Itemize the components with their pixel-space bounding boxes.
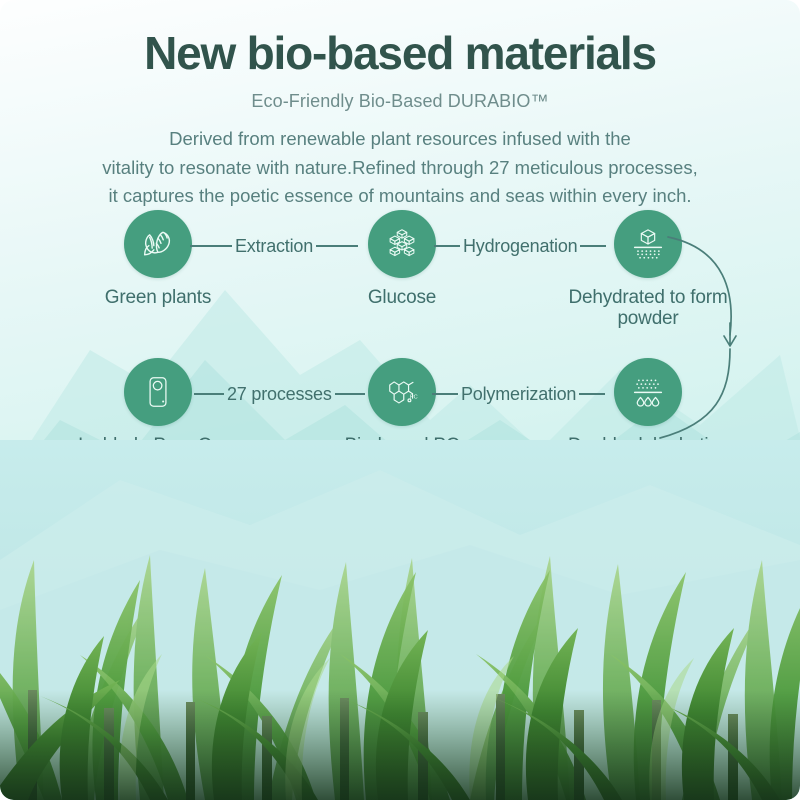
sugarcane-artwork: [0, 440, 800, 800]
page-title: New bio-based materials: [0, 26, 800, 80]
flow-node-glucose[interactable]: Glucose: [322, 210, 482, 308]
flow-node-green-plants[interactable]: Green plants: [78, 210, 238, 308]
double-dehydration-disc: [614, 358, 682, 426]
page-subtitle: Eco-Friendly Bio-Based DURABIO™: [0, 91, 800, 112]
sugarcane-field-photo: [0, 440, 800, 800]
glucose-disc: [368, 210, 436, 278]
sugar-cubes-icon: [383, 225, 421, 263]
description-paragraph: Derived from renewable plant resources i…: [0, 125, 800, 211]
description-line-1: Derived from renewable plant resources i…: [0, 125, 800, 154]
molecule-pc-icon: PC: [381, 371, 423, 413]
connector-label: Hydrogenation: [460, 236, 580, 257]
phone-case-icon: [139, 373, 177, 411]
flow-node-label: Dehydrated to form powder: [568, 287, 728, 330]
cube-drying-icon: [628, 224, 668, 264]
molecule-badge-text: PC: [410, 395, 418, 401]
flow-node-label: Green plants: [78, 287, 238, 308]
connector-line-left: [194, 393, 224, 395]
green-plants-disc: [124, 210, 192, 278]
connector-label: Extraction: [232, 236, 316, 257]
connector-label: 27 processes: [224, 384, 335, 405]
dehydrated-powder-disc: [614, 210, 682, 278]
connector-line-left: [434, 245, 460, 247]
corn-icon: [138, 224, 178, 264]
connector-line-left: [190, 245, 232, 247]
connector-label: Polymerization: [458, 384, 579, 405]
bio-based-pc-disc: PC: [368, 358, 436, 426]
description-line-2: vitality to resonate with nature.Refined…: [0, 154, 800, 183]
flow-node-label: Glucose: [322, 287, 482, 308]
connector-line-left: [432, 393, 458, 395]
infographic-poster: New bio-based materials Eco-Friendly Bio…: [0, 0, 800, 800]
double-dehydration-icon: [628, 372, 668, 412]
flow-node-dehydrated-powder[interactable]: Dehydrated to form powder: [568, 210, 728, 330]
process-flow-diagram: Green plants Extraction: [0, 205, 800, 470]
iceblade-prop-case-disc: [124, 358, 192, 426]
